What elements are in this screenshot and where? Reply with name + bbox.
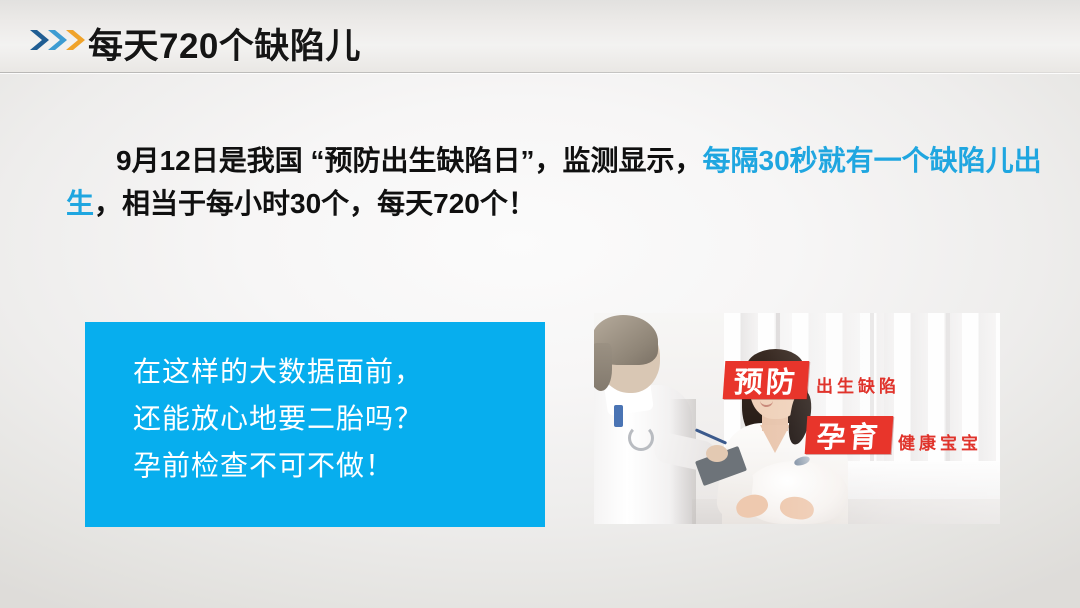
paragraph-part-3: ，相当于每小时30个，每天720个！ (94, 188, 536, 219)
chevron-group-icon (28, 28, 88, 52)
chevron-dark-blue-icon (30, 30, 49, 50)
chevron-light-blue-icon (48, 30, 67, 50)
page-title: 每天720个缺陷儿 (88, 18, 361, 69)
blue-callout-box: 在这样的大数据面前， 还能放心地要二胎吗？ 孕前检查不可不做！ (85, 322, 545, 527)
photo-caption-text-jiankangbaobao: 健康宝宝 (898, 429, 982, 454)
photo-caption-box-yunyu: 孕育 (805, 416, 894, 454)
photo-caption-box-yufang: 预防 (723, 361, 810, 399)
photo-caption-text-chushengquexian: 出生缺陷 (816, 372, 900, 397)
photo-doctor-id-badge (614, 405, 623, 427)
slide-header: 每天720个缺陷儿 (0, 0, 1080, 73)
chevron-orange-icon (66, 30, 85, 50)
photo-doctor-and-pregnant-woman: 预防 出生缺陷 孕育 健康宝宝 (594, 313, 1000, 524)
photo-scene: 预防 出生缺陷 孕育 健康宝宝 (594, 313, 1000, 524)
photo-stethoscope-icon (628, 425, 654, 451)
photo-doctor-hand (706, 445, 728, 462)
paragraph-part-1: 9月12日是我国 “预防出生缺陷日”，监测显示， (116, 145, 703, 176)
slide-canvas: 每天720个缺陷儿 9月12日是我国 “预防出生缺陷日”，监测显示，每隔30秒就… (0, 0, 1080, 608)
callout-line-3: 孕前检查不可不做！ (133, 442, 545, 489)
header-divider-highlight (0, 73, 1080, 74)
callout-line-1: 在这样的大数据面前， (133, 348, 545, 395)
body-paragraph: 9月12日是我国 “预防出生缺陷日”，监测显示，每隔30秒就有一个缺陷儿出生，相… (66, 139, 1058, 225)
callout-line-2: 还能放心地要二胎吗？ (133, 395, 545, 442)
